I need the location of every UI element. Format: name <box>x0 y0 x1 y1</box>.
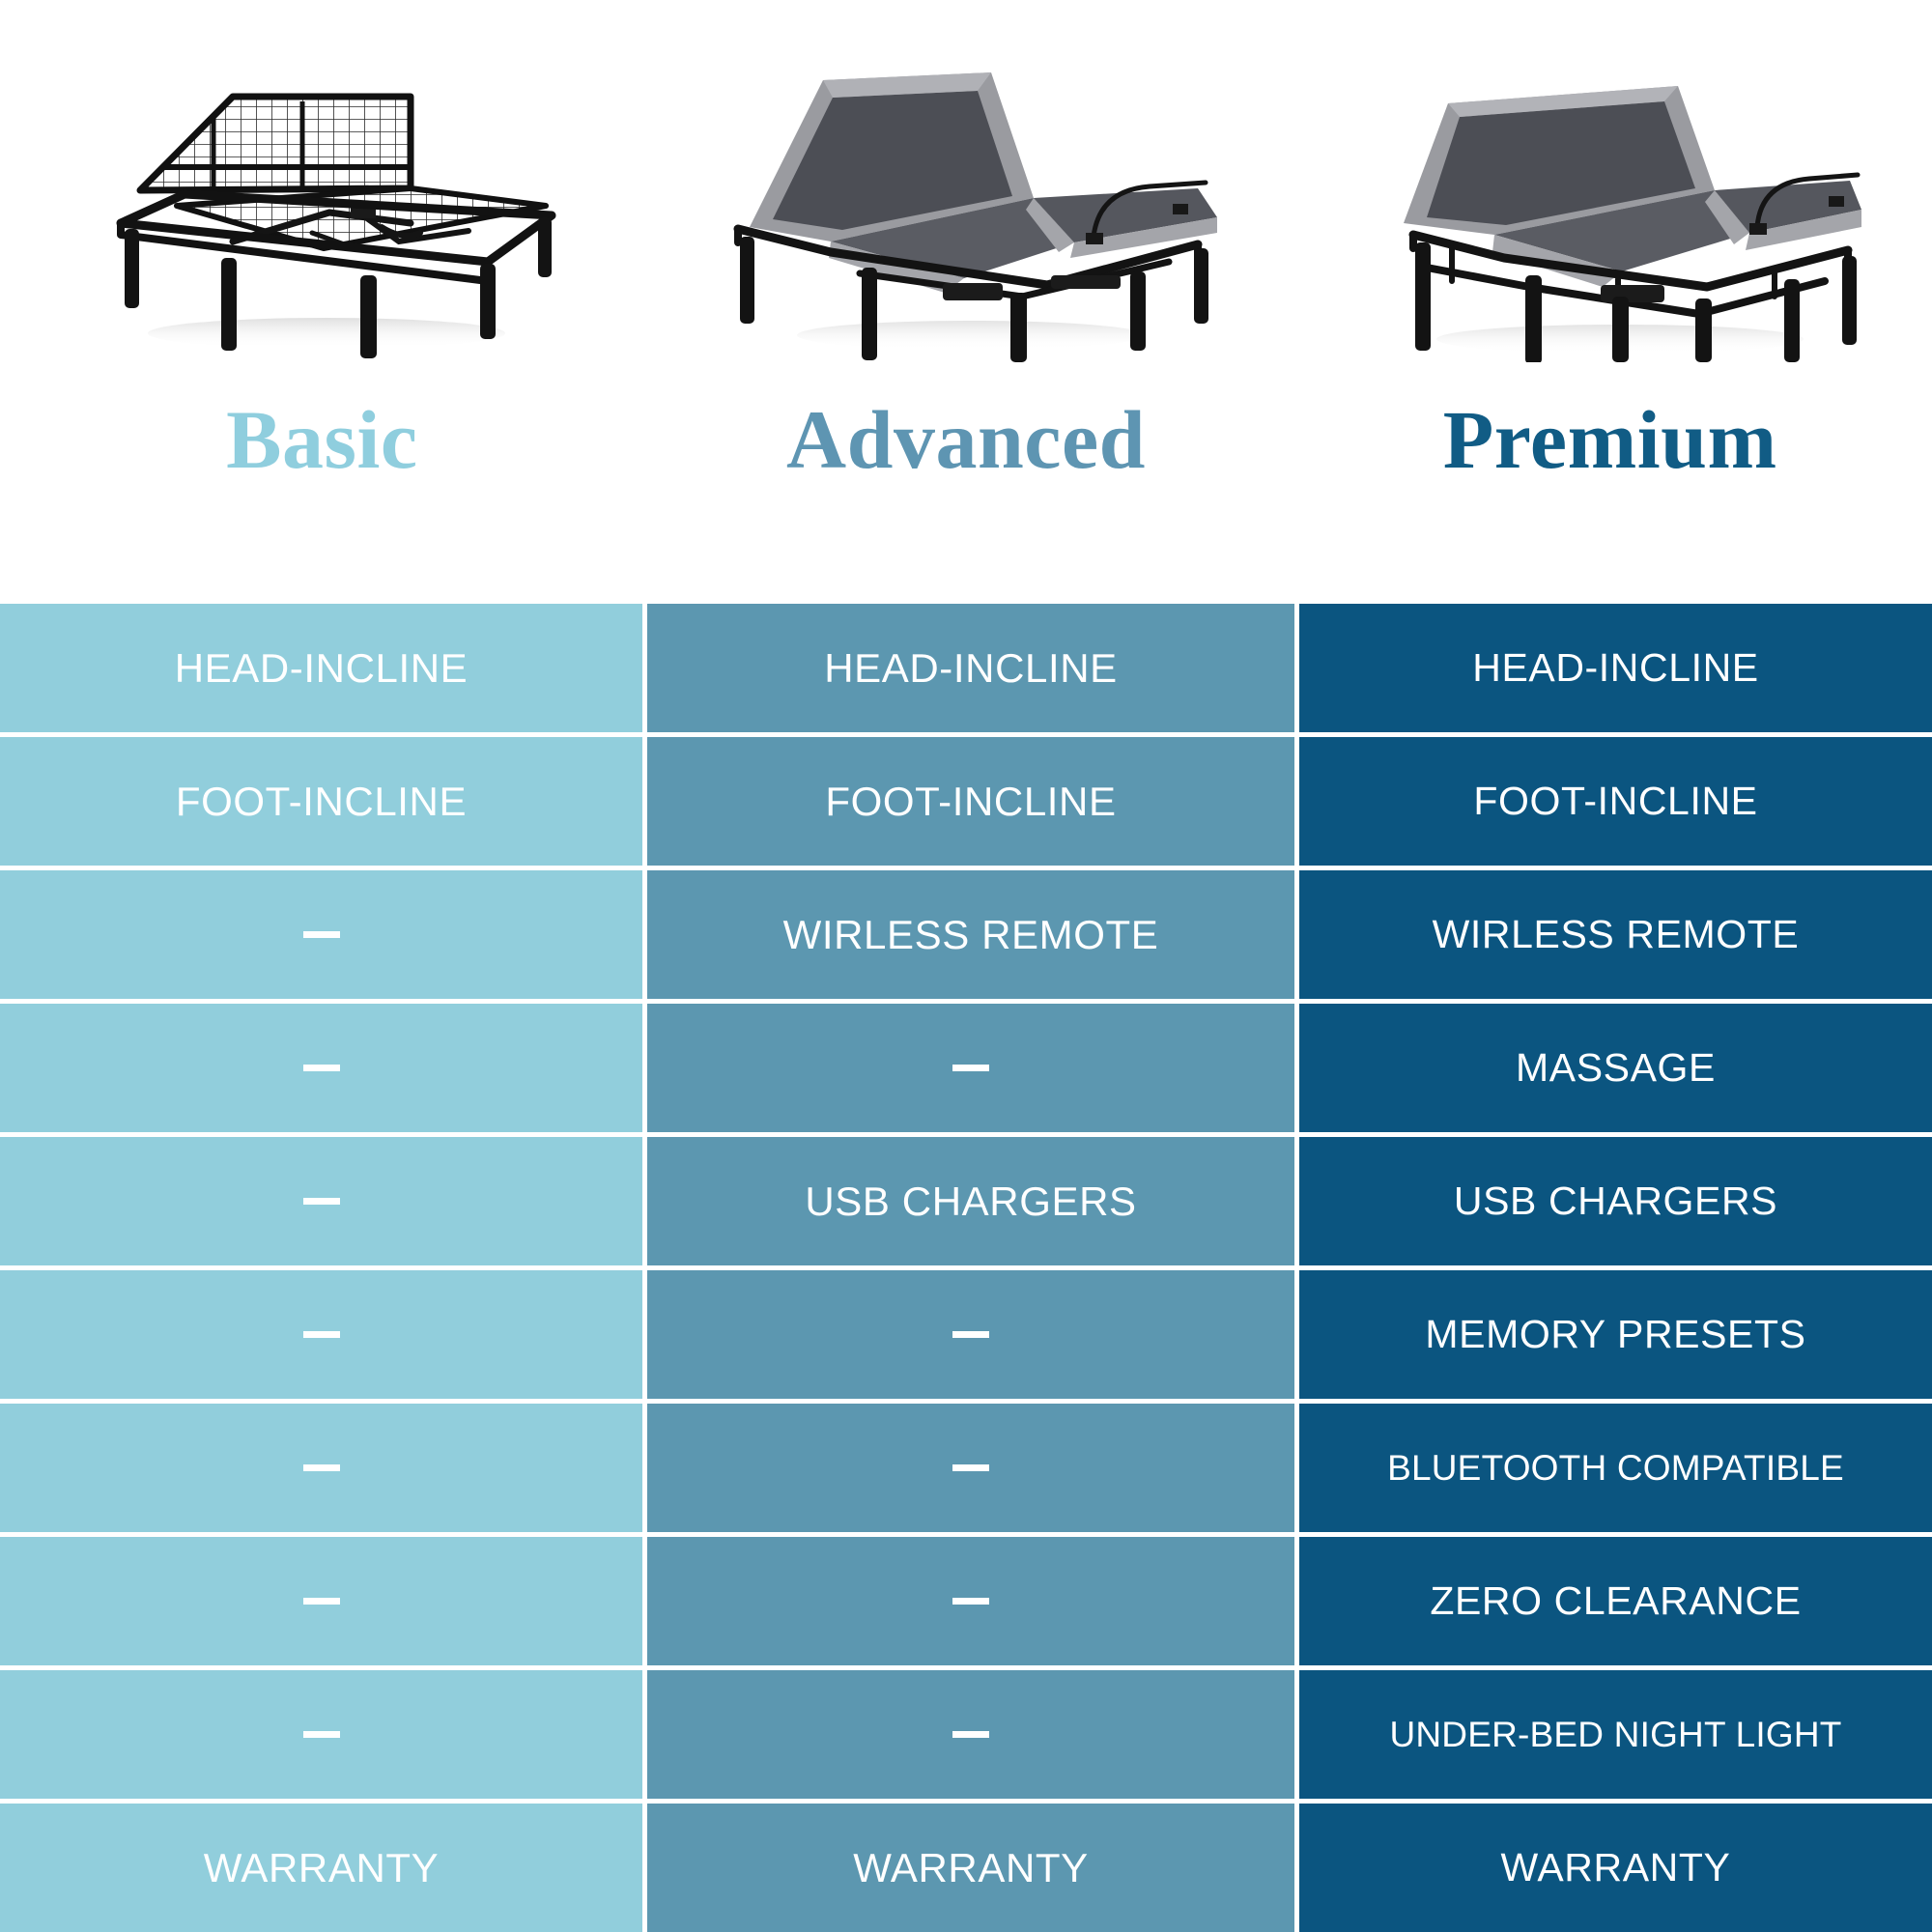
feature-value: HEAD-INCLINE <box>824 645 1118 692</box>
table-row: FOOT-INCLINE <box>0 732 642 866</box>
feature-value: UNDER-BED NIGHT LIGHT <box>1389 1715 1841 1755</box>
table-row <box>0 1532 642 1665</box>
feature-unavailable-dash <box>952 1598 989 1605</box>
feature-unavailable-dash <box>303 1065 340 1071</box>
table-row: HEAD-INCLINE <box>1299 604 1932 732</box>
feature-value: HEAD-INCLINE <box>175 645 469 692</box>
feature-column-basic: HEAD-INCLINE FOOT-INCLINE WARRANTY <box>0 604 642 1932</box>
table-row <box>0 1132 642 1265</box>
table-row: USB CHARGERS <box>1299 1132 1932 1265</box>
table-row <box>0 1665 642 1799</box>
table-row: WIRLESS REMOTE <box>647 866 1294 999</box>
feature-unavailable-dash <box>952 1731 989 1738</box>
adjustable-bed-advanced-icon <box>715 43 1217 362</box>
table-row: ZERO CLEARANCE <box>1299 1532 1932 1665</box>
feature-value: WARRANTY <box>1501 1845 1731 1890</box>
table-row <box>647 1665 1294 1799</box>
feature-unavailable-dash <box>303 1198 340 1205</box>
feature-value: USB CHARGERS <box>1454 1179 1777 1224</box>
feature-value: USB CHARGERS <box>805 1179 1136 1225</box>
table-row: WARRANTY <box>0 1799 642 1932</box>
feature-unavailable-dash <box>952 1065 989 1071</box>
feature-value: WARRANTY <box>204 1845 440 1891</box>
tier-column-basic: Basic <box>0 0 644 604</box>
table-row <box>0 999 642 1132</box>
product-image-premium <box>1288 0 1932 406</box>
feature-value: ZERO CLEARANCE <box>1430 1578 1801 1624</box>
feature-value: WIRLESS REMOTE <box>783 912 1159 958</box>
table-row <box>0 866 642 999</box>
feature-unavailable-dash <box>303 1464 340 1471</box>
feature-value: WARRANTY <box>853 1845 1089 1891</box>
feature-value: FOOT-INCLINE <box>176 779 467 825</box>
table-row <box>0 1265 642 1399</box>
feature-column-advanced: HEAD-INCLINE FOOT-INCLINE WIRLESS REMOTE… <box>647 604 1294 1932</box>
feature-unavailable-dash <box>303 1598 340 1605</box>
feature-column-premium: HEAD-INCLINE FOOT-INCLINE WIRLESS REMOTE… <box>1299 604 1932 1932</box>
table-row: FOOT-INCLINE <box>647 732 1294 866</box>
table-row: WARRANTY <box>1299 1799 1932 1932</box>
table-row: WIRLESS REMOTE <box>1299 866 1932 999</box>
feature-unavailable-dash <box>303 931 340 938</box>
product-image-advanced <box>644 0 1289 406</box>
tier-column-premium: Premium <box>1288 0 1932 604</box>
feature-value: MEMORY PRESETS <box>1425 1312 1805 1357</box>
feature-value: BLUETOOTH COMPATIBLE <box>1387 1448 1844 1489</box>
comparison-chart: Basic <box>0 0 1932 1932</box>
feature-value: FOOT-INCLINE <box>825 779 1116 825</box>
table-row: BLUETOOTH COMPATIBLE <box>1299 1399 1932 1532</box>
adjustable-bed-basic-icon <box>71 43 573 362</box>
table-row: MEMORY PRESETS <box>1299 1265 1932 1399</box>
tier-title-advanced: Advanced <box>786 398 1146 481</box>
table-row <box>0 1399 642 1532</box>
product-header: Basic <box>0 0 1932 604</box>
table-row: FOOT-INCLINE <box>1299 732 1932 866</box>
table-row <box>647 1265 1294 1399</box>
table-row <box>647 1399 1294 1532</box>
feature-value: HEAD-INCLINE <box>1472 645 1759 691</box>
feature-unavailable-dash <box>303 1731 340 1738</box>
table-row: HEAD-INCLINE <box>647 604 1294 732</box>
table-row: UNDER-BED NIGHT LIGHT <box>1299 1665 1932 1799</box>
table-row: WARRANTY <box>647 1799 1294 1932</box>
adjustable-bed-premium-icon <box>1359 43 1861 362</box>
table-row: MASSAGE <box>1299 999 1932 1132</box>
feature-value: MASSAGE <box>1516 1045 1716 1091</box>
table-row: HEAD-INCLINE <box>0 604 642 732</box>
feature-unavailable-dash <box>952 1464 989 1471</box>
feature-unavailable-dash <box>952 1331 989 1338</box>
feature-comparison-table: HEAD-INCLINE FOOT-INCLINE WARRANTY HEAD-… <box>0 604 1932 1932</box>
product-image-basic <box>0 0 644 406</box>
feature-unavailable-dash <box>303 1331 340 1338</box>
tier-title-premium: Premium <box>1443 398 1777 481</box>
table-row <box>647 999 1294 1132</box>
tier-title-basic: Basic <box>226 398 417 481</box>
table-row: USB CHARGERS <box>647 1132 1294 1265</box>
table-row <box>647 1532 1294 1665</box>
tier-column-advanced: Advanced <box>644 0 1289 604</box>
feature-value: WIRLESS REMOTE <box>1433 912 1800 957</box>
feature-value: FOOT-INCLINE <box>1473 779 1757 824</box>
